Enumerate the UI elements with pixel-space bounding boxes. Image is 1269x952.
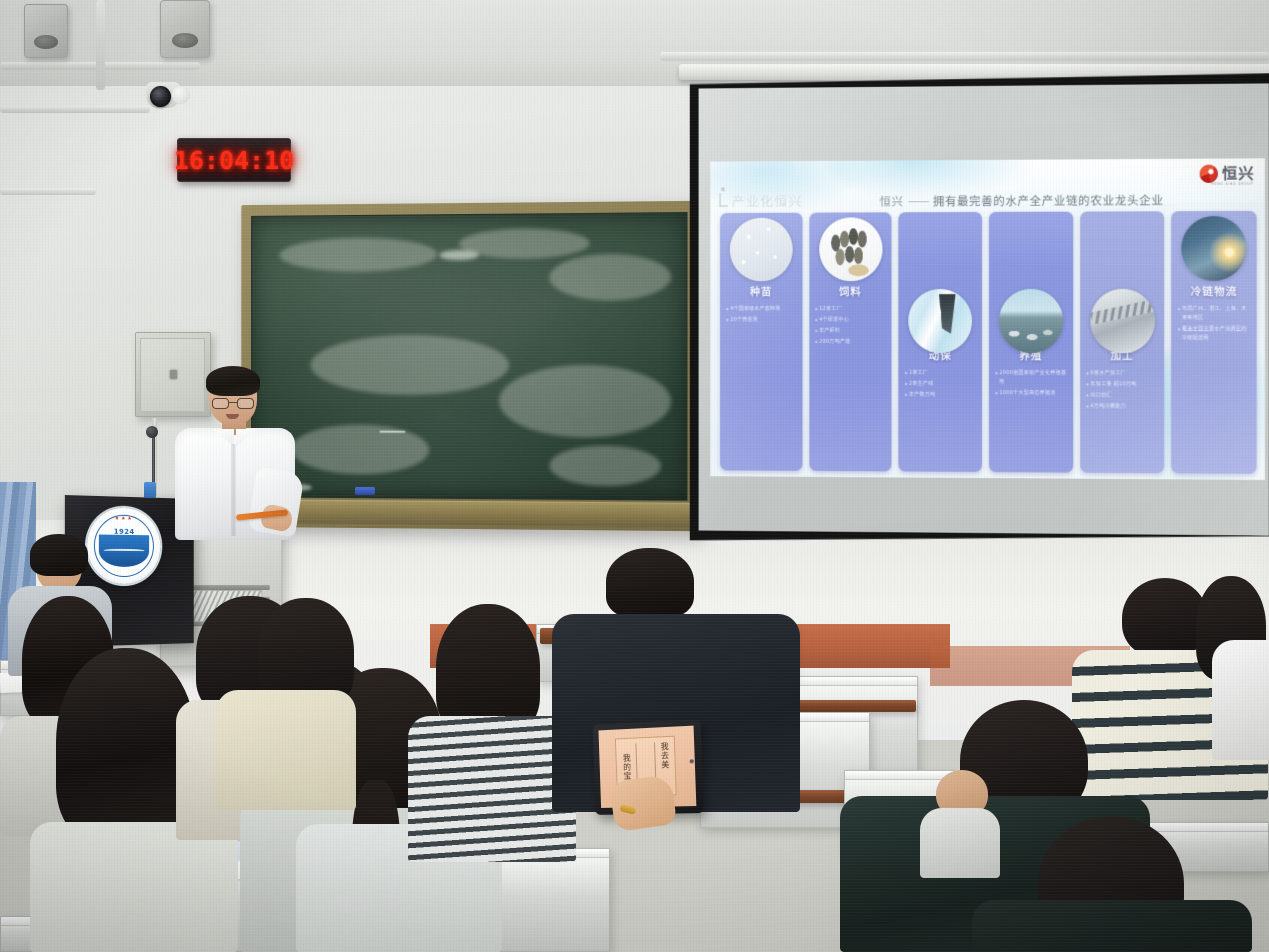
tablet-camera-icon bbox=[690, 759, 694, 763]
lock-icon bbox=[170, 370, 177, 379]
animal-health-photo bbox=[908, 289, 972, 353]
slide-column-bullets: 6家水产加工厂年加工量 超10万吨出口创汇4万吨冷藏能力 bbox=[1080, 369, 1165, 411]
slide-bullet-item: 6家水产加工厂 bbox=[1086, 369, 1158, 378]
slide-bullet-item: 年产虾料 bbox=[815, 327, 886, 336]
slide-subtitle-text: 拥有最完善的水产全产业链的农业龙头企业 bbox=[933, 193, 1164, 208]
university-emblem: ★★★ 1924 bbox=[87, 507, 160, 584]
slide-column-bullets: 2000亩国家级产业化养殖基地1000个大型高位养殖池 bbox=[989, 369, 1073, 398]
slide-bullet-item: 20个育苗场 bbox=[726, 316, 796, 325]
slide-column-bullets: 1家工厂2条生产线年产数万吨 bbox=[899, 369, 982, 400]
slide-column-4: 养殖2000亩国家级产业化养殖基地1000个大型高位养殖池 bbox=[989, 212, 1073, 473]
presenter-shirt-placket bbox=[231, 444, 236, 536]
wall-speaker-right bbox=[160, 0, 210, 58]
slide-bullet-item: 覆盖全国主要水产消费区的冷链配送网 bbox=[1178, 325, 1251, 343]
slide-column-group: 种苗4个国家级水产苗种场20个育苗场饲料12家工厂4个研发中心年产虾料200万吨… bbox=[720, 211, 1257, 474]
glasses-icon bbox=[212, 398, 254, 410]
slide-bullet-item: 12家工厂 bbox=[815, 305, 886, 314]
slide-bullet-item: 1000个大型高位养殖池 bbox=[995, 389, 1067, 398]
slide-bullet-item: 布局广州、湛江、上海、天津等地区 bbox=[1178, 305, 1251, 323]
slide-column-3: 动保1家工厂2条生产线年产数万吨 bbox=[899, 212, 982, 472]
electrical-cabinet[interactable] bbox=[135, 332, 211, 417]
microphone-icon bbox=[146, 426, 158, 438]
podium-small-object bbox=[144, 482, 156, 498]
projector-screen: 恒兴 HENG XING GROUP 产业化恒兴 恒兴 —— 拥有最完善的水产全… bbox=[690, 73, 1269, 545]
slide-column-label: 饲料 bbox=[809, 284, 892, 299]
slide-subtitle-brand: 恒兴 bbox=[880, 194, 904, 208]
slide-title-bracket-icon bbox=[719, 193, 728, 207]
ceiling-rail-right bbox=[660, 52, 1269, 61]
slide-column-bullets: 4个国家级水产苗种场20个育苗场 bbox=[720, 305, 802, 325]
tablet-text-right: 我去美 bbox=[659, 742, 671, 770]
security-camera-icon bbox=[150, 86, 171, 107]
processing-line-photo bbox=[1090, 289, 1155, 353]
slide-column-1: 种苗4个国家级水产苗种场20个育苗场 bbox=[720, 213, 802, 471]
shrimp-fry-photo bbox=[730, 218, 793, 282]
slide-bullet-item: 1家工厂 bbox=[905, 369, 976, 378]
presentation-slide: 恒兴 HENG XING GROUP 产业化恒兴 恒兴 —— 拥有最完善的水产全… bbox=[710, 158, 1265, 480]
cold-chain-photo bbox=[1182, 216, 1247, 281]
brand-logo-subtext: HENG XING GROUP bbox=[1211, 182, 1253, 186]
marker-pen[interactable] bbox=[355, 487, 375, 495]
emblem-wave-icon bbox=[99, 535, 149, 567]
slide-bullet-item: 4个研发中心 bbox=[815, 316, 886, 325]
brand-logo: 恒兴 bbox=[1200, 164, 1255, 182]
ceiling-pipe-lower bbox=[0, 106, 150, 113]
slide-bullet-item: 出口创汇 bbox=[1086, 391, 1158, 400]
slide-bullet-item: 2条生产线 bbox=[905, 380, 976, 389]
slide-subtitle-dash: —— bbox=[908, 194, 929, 208]
slide-column-6: 冷链物流布局广州、湛江、上海、天津等地区覆盖全国主要水产消费区的冷链配送网 bbox=[1172, 211, 1257, 474]
slide-title: 产业化恒兴 bbox=[732, 191, 803, 210]
wall-pipe-mid bbox=[0, 188, 96, 195]
camera-housing-ball bbox=[172, 86, 190, 104]
slide-bullet-item: 2000亩国家级产业化养殖基地 bbox=[995, 369, 1067, 387]
brand-logo-text: 恒兴 bbox=[1222, 166, 1255, 181]
chalk-ledge bbox=[245, 499, 694, 527]
slide-column-label: 冷链物流 bbox=[1172, 284, 1257, 299]
aquaculture-ponds-photo bbox=[999, 289, 1063, 353]
classroom-lecture-photo: 16:04:10 bbox=[0, 0, 1269, 952]
blackboard bbox=[241, 201, 698, 531]
hengxing-logo-icon bbox=[1200, 165, 1218, 183]
wall-conduit-vertical bbox=[96, 0, 105, 90]
presenter-hair bbox=[206, 366, 260, 396]
digital-wall-clock: 16:04:10 bbox=[177, 138, 291, 182]
slide-bullet-item: 年加工量 超10万吨 bbox=[1086, 380, 1158, 389]
slide-column-5: 加工6家水产加工厂年加工量 超10万吨出口创汇4万吨冷藏能力 bbox=[1080, 211, 1165, 473]
emblem-stars: ★★★ bbox=[87, 515, 160, 523]
slide-subtitle: 恒兴 —— 拥有最完善的水产全产业链的农业龙头企业 bbox=[880, 192, 1164, 209]
slide-column-2: 饲料12家工厂4个研发中心年产虾料200万吨产能 bbox=[809, 212, 892, 471]
projector-screen-surface: 恒兴 HENG XING GROUP 产业化恒兴 恒兴 —— 拥有最完善的水产全… bbox=[699, 83, 1269, 535]
blackboard-surface bbox=[251, 212, 687, 501]
slide-bullet-item: 4万吨冷藏能力 bbox=[1086, 402, 1158, 411]
slide-title-dot-icon bbox=[721, 187, 725, 191]
tablet-text-left: 我的宝 bbox=[621, 754, 633, 781]
slide-bullet-item: 年产数万吨 bbox=[905, 391, 976, 400]
clock-time-display: 16:04:10 bbox=[174, 146, 294, 175]
slide-column-label: 种苗 bbox=[720, 284, 802, 299]
slide-bullet-item: 200万吨产能 bbox=[815, 338, 886, 347]
feed-pellets-photo bbox=[819, 217, 882, 281]
slide-bullet-item: 4个国家级水产苗种场 bbox=[726, 305, 796, 314]
slide-column-bullets: 布局广州、湛江、上海、天津等地区覆盖全国主要水产消费区的冷链配送网 bbox=[1172, 305, 1257, 343]
wall-speaker-left bbox=[24, 4, 68, 58]
slide-column-bullets: 12家工厂4个研发中心年产虾料200万吨产能 bbox=[809, 305, 892, 346]
